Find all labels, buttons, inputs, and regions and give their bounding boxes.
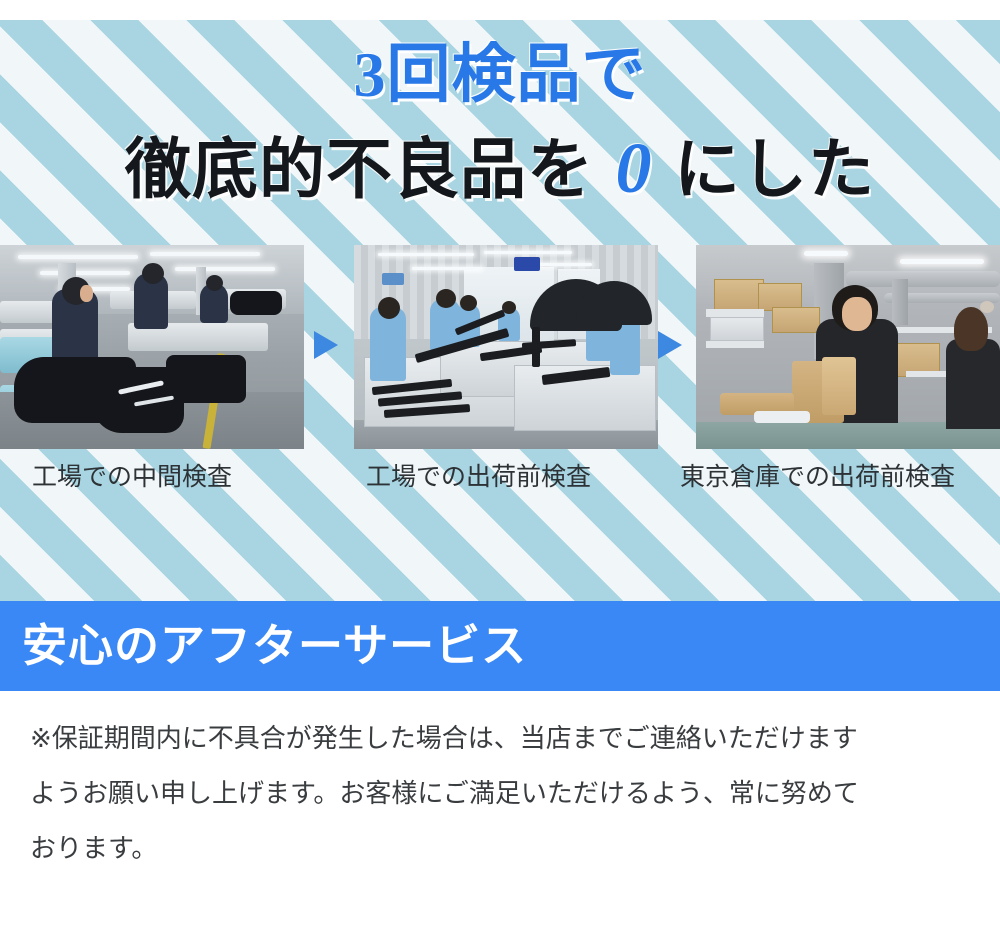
page-title-line-1: 3回検品で	[0, 38, 1000, 112]
process-arrow-1-icon	[314, 331, 338, 359]
zero-defect-number: 0	[612, 128, 657, 208]
after-service-banner-title: 安心のアフターサービス	[22, 618, 527, 674]
inspection-photo-1	[0, 245, 304, 449]
inspection-photo-2	[354, 245, 658, 449]
page-title-line-2-prefix: 徹底的不良品を	[125, 134, 594, 207]
product-description-section: 3回検品で 徹底的不良品を 0 にした	[0, 0, 1000, 939]
inspection-caption-3: 東京倉庫での出荷前検査	[680, 462, 955, 492]
top-white-band	[0, 0, 1000, 20]
after-service-banner: 安心のアフターサービス	[0, 601, 1000, 691]
page-title-line-2-suffix: にした	[674, 134, 875, 207]
inspection-caption-2: 工場での出荷前検査	[366, 462, 591, 492]
page-title-line-2: 徹底的不良品を 0 にした	[0, 128, 1000, 211]
inspection-caption-1: 工場での中間検査	[32, 462, 232, 492]
after-service-body-text: ※保証期間内に不具合が発生した場合は、当店までご連絡いただけます ようお願い申し…	[30, 712, 980, 877]
after-service-body-line-1: ※保証期間内に不具合が発生した場合は、当店までご連絡いただけます	[30, 712, 980, 767]
after-service-body-line-3: おります。	[30, 822, 980, 877]
process-arrow-2-icon	[658, 331, 682, 359]
inspection-photo-3	[696, 245, 1000, 449]
inspection-photo-row	[0, 245, 1000, 449]
after-service-body-line-2: ようお願い申し上げます。お客様にご満足いただけるよう、常に努めて	[30, 767, 980, 822]
